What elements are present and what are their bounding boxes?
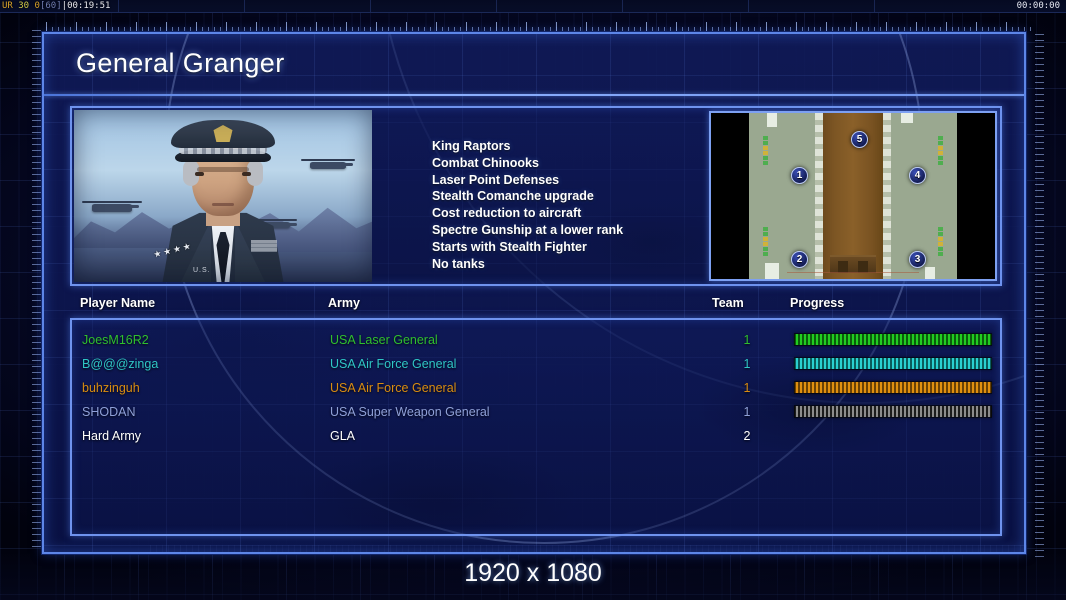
progress-bar — [794, 333, 992, 346]
mouth — [212, 203, 234, 206]
player-progress-cell — [794, 333, 992, 346]
player-progress-cell — [794, 357, 992, 370]
player-army-cell: USA Laser General — [330, 333, 438, 347]
perf-fps: 30 — [18, 1, 29, 11]
player-progress-cell — [794, 381, 992, 394]
player-army-cell: USA Air Force General — [330, 381, 456, 395]
top-status-bar: UR 30 0[60]|00:19:51 00:00:00 — [0, 0, 1066, 13]
progress-bar — [794, 357, 992, 370]
player-team-cell: 2 — [740, 429, 754, 443]
player-progress-cell — [794, 405, 992, 418]
minimap-start-position-3: 3 — [909, 251, 926, 268]
minimap-boundary-line — [787, 272, 919, 273]
dialog-title-row: General Granger — [44, 34, 1024, 96]
player-army-cell: USA Super Weapon General — [330, 405, 490, 419]
ruler-left-decoration — [32, 30, 41, 552]
player-list-panel: JoesM16R2USA Laser General1B@@@zingaUSA … — [70, 318, 1002, 536]
ruler-right-decoration — [1035, 34, 1044, 560]
minimap-start-position-5: 5 — [851, 131, 868, 148]
loading-screen-dialog: General Granger — [42, 32, 1026, 554]
general-info-panel: ★★★★ U.S. King Raptors Combat Chinooks L… — [70, 106, 1002, 286]
page-title: General Granger — [76, 48, 285, 79]
perf-prefix: UR — [2, 1, 13, 11]
player-name-cell: SHODAN — [82, 405, 135, 419]
player-army-cell: GLA — [330, 429, 355, 443]
player-name-cell: Hard Army — [82, 429, 141, 443]
player-name-cell: JoesM16R2 — [82, 333, 149, 347]
column-header-progress: Progress — [790, 296, 844, 310]
table-row[interactable]: B@@@zingaUSA Air Force General1 — [72, 352, 1000, 376]
title-underline — [44, 94, 1024, 96]
perf-bracket: [60] — [40, 1, 62, 11]
minimap-start-position-4: 4 — [909, 167, 926, 184]
game-screen: UR 30 0[60]|00:19:51 00:00:00 General Gr… — [0, 0, 1066, 600]
column-header-player-name: Player Name — [80, 296, 155, 310]
minimap-start-position-1: 1 — [791, 167, 808, 184]
player-team-cell: 1 — [740, 405, 754, 419]
table-row[interactable]: Hard ArmyGLA2 — [72, 424, 1000, 448]
resolution-caption: 1920 x 1080 — [0, 559, 1066, 588]
session-timer: 00:19:51 — [67, 1, 110, 11]
player-army-cell: USA Air Force General — [330, 357, 456, 371]
officer-figure: ★★★★ U.S. — [139, 122, 307, 282]
brow-shadow — [197, 167, 249, 172]
helicopter-icon — [310, 162, 346, 169]
minimap-preview: 12345 — [709, 111, 997, 281]
player-rows: JoesM16R2USA Laser General1B@@@zingaUSA … — [72, 328, 1000, 448]
progress-bar — [794, 405, 992, 418]
ruler-top-decoration — [46, 22, 1036, 31]
player-progress-cell — [794, 429, 992, 442]
column-header-team: Team — [712, 296, 744, 310]
player-team-cell: 1 — [740, 357, 754, 371]
player-team-cell: 1 — [740, 333, 754, 347]
helicopter-icon — [92, 204, 132, 212]
clock-readout: 00:00:00 — [1017, 1, 1060, 12]
eye-right — [242, 172, 251, 176]
player-list-header: Player Name Army Team Progress — [70, 296, 1002, 316]
minimap-resource-cluster — [938, 136, 943, 165]
player-name-cell: B@@@zinga — [82, 357, 158, 371]
eye-left — [195, 172, 204, 176]
table-row[interactable]: buhzinguhUSA Air Force General1 — [72, 376, 1000, 400]
minimap-resource-cluster — [763, 227, 768, 256]
table-row[interactable]: SHODANUSA Super Weapon General1 — [72, 400, 1000, 424]
minimap-resource-cluster — [763, 136, 768, 165]
minimap-start-position-2: 2 — [791, 251, 808, 268]
performance-readout: UR 30 0[60]|00:19:51 — [2, 1, 110, 12]
minimap-river-bank-left — [815, 113, 823, 279]
player-team-cell: 1 — [740, 381, 754, 395]
general-portrait-image: ★★★★ U.S. — [74, 110, 372, 282]
minimap-river-bank-right — [883, 113, 891, 279]
us-insignia: U.S. — [193, 267, 211, 274]
minimap-canvas: 12345 — [711, 113, 995, 279]
minimap-bridge — [830, 255, 876, 273]
player-name-cell: buhzinguh — [82, 381, 140, 395]
service-ribbons — [251, 240, 277, 252]
column-header-army: Army — [328, 296, 360, 310]
minimap-resource-cluster — [938, 227, 943, 256]
table-row[interactable]: JoesM16R2USA Laser General1 — [72, 328, 1000, 352]
progress-bar — [794, 381, 992, 394]
